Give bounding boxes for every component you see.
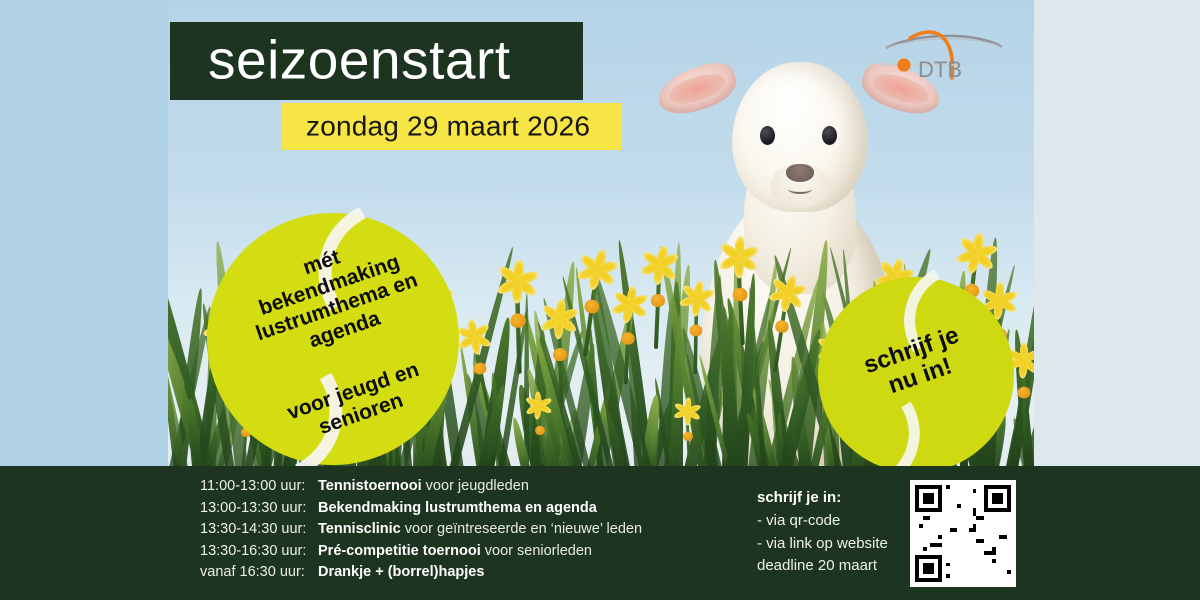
lamb-eye-right: [822, 126, 837, 145]
daffodil-petals: [639, 244, 681, 286]
lamb-ear-inner-left: [666, 69, 728, 109]
daffodil-corona: [584, 298, 600, 314]
qr-code[interactable]: [910, 480, 1016, 587]
signup-info-block: schrijf je in: - via qr-code - via link …: [757, 487, 888, 578]
footer-bar: 11:00-13:00 uur:Tennistoernooi voor jeug…: [0, 466, 1200, 600]
daffodil-petals: [523, 391, 553, 421]
schedule-row-title: Drankje + (borrel)hapjes: [318, 564, 484, 580]
daffodil-petals: [716, 235, 760, 279]
dtb-logo-text: DTB: [918, 57, 962, 82]
badge-tennis-ball-left: mét bekendmaking lustrumthema en agenda …: [207, 213, 459, 465]
daffodil-corona: [535, 425, 545, 435]
schedule-row-detail: voor seniorleden: [481, 543, 592, 559]
schedule-row: 13:30-16:30 uur:Pré-competitie toernooi …: [200, 543, 642, 565]
schedule-row: 11:00-13:00 uur:Tennistoernooi voor jeug…: [200, 478, 642, 500]
date-banner: zondag 29 maart 2026: [282, 103, 622, 150]
schedule-row: 13:00-13:30 uur:Bekendmaking lustrumthem…: [200, 500, 642, 522]
schedule-row-title: Tennistoernooi: [318, 478, 422, 494]
schedule-row-detail: voor geïntreseerde en ‘nieuwe’ leden: [401, 521, 642, 537]
badge-tennis-ball-right: schrijf je nu in!: [818, 277, 1014, 473]
daffodil-flower: [716, 235, 764, 353]
daffodil-flower: [677, 280, 715, 380]
daffodil-petals: [678, 280, 715, 317]
schedule-row-time: 13:30-14:30 uur:: [200, 521, 318, 537]
daffodil-petals: [494, 259, 539, 304]
schedule-row-description: Tennisclinic voor geïntreseerde en ‘nieu…: [318, 521, 642, 537]
daffodil-flower: [494, 259, 541, 381]
schedule-row-title: Pré-competitie toernooi: [318, 543, 481, 559]
qr-module: [1007, 578, 1011, 582]
schedule-row-time: 13:00-13:30 uur:: [200, 500, 318, 516]
schedule-list: 11:00-13:00 uur:Tennistoernooi voor jeug…: [200, 478, 642, 586]
poster-canvas: seizoenstart zondag 29 maart 2026 DTB mé…: [0, 0, 1200, 600]
daffodil-corona: [1018, 386, 1031, 398]
daffodil-flower: [672, 397, 703, 467]
daffodil-corona: [510, 313, 526, 328]
lamb-mouth: [788, 184, 812, 194]
lamb-ear-left: [652, 57, 741, 122]
schedule-row-title: Tennisclinic: [318, 521, 401, 537]
schedule-row-time: 11:00-13:00 uur:: [200, 478, 318, 494]
schedule-row-detail: voor jeugdleden: [422, 478, 529, 494]
daffodil-petals: [672, 397, 701, 426]
schedule-row-description: Bekendmaking lustrumthema en agenda: [318, 500, 597, 516]
title-banner: seizoenstart: [170, 22, 583, 100]
daffodil-corona: [621, 332, 635, 345]
daffodil-corona: [651, 293, 666, 307]
lamb-nose: [786, 164, 814, 182]
event-date: zondag 29 maart 2026: [306, 110, 590, 142]
daffodil-flower: [523, 391, 557, 467]
qr-code-grid: [915, 485, 1011, 582]
schedule-row: 13:30-14:30 uur:Tennisclinic voor geïntr…: [200, 521, 642, 543]
daffodil-corona: [683, 431, 693, 440]
daffodil-corona: [774, 319, 789, 333]
schedule-row-time: 13:30-16:30 uur:: [200, 543, 318, 559]
schedule-row-time: vanaf 16:30 uur:: [200, 564, 318, 580]
schedule-row-description: Tennistoernooi voor jeugdleden: [318, 478, 529, 494]
daffodil-corona: [690, 324, 703, 336]
right-background-fill: [1032, 0, 1200, 466]
dtb-logo-icon: DTB: [878, 20, 1008, 90]
schedule-row-description: Drankje + (borrel)hapjes: [318, 564, 484, 580]
lamb-eye-left: [760, 126, 775, 145]
schedule-row-title: Bekendmaking lustrumthema en agenda: [318, 500, 597, 516]
daffodil-flower: [636, 244, 681, 356]
left-background-fill: [0, 0, 170, 466]
daffodil-corona: [732, 287, 747, 301]
schedule-row: vanaf 16:30 uur:Drankje + (borrel)hapjes: [200, 564, 642, 586]
signup-line-2: deadline 20 maart: [757, 555, 888, 578]
daffodil-corona: [473, 361, 488, 375]
page-title: seizoenstart: [208, 28, 511, 92]
signup-line-1: - via link op website: [757, 533, 888, 556]
signup-heading: schrijf je in:: [757, 487, 888, 510]
daffodil-petals: [765, 271, 808, 314]
schedule-row-description: Pré-competitie toernooi voor seniorleden: [318, 543, 592, 559]
signup-line-0: - via qr-code: [757, 510, 888, 533]
